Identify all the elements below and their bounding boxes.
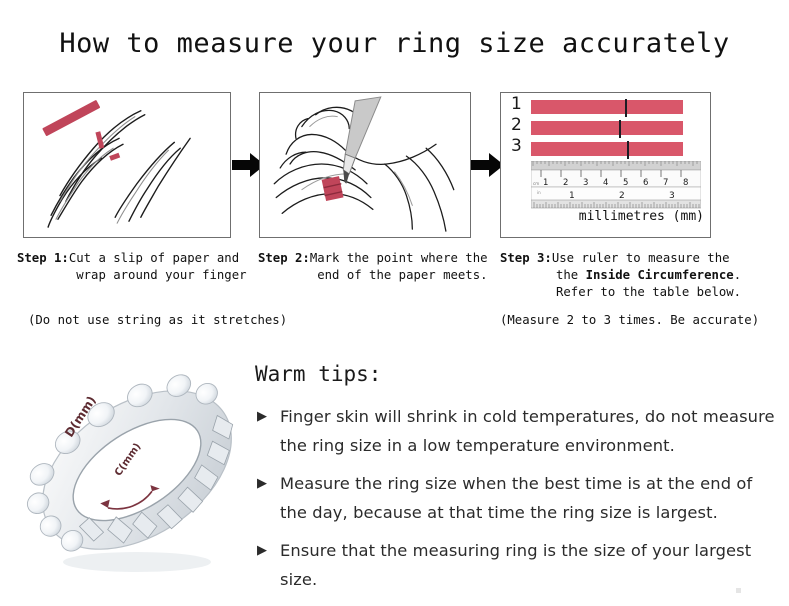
- svg-text:6: 6: [643, 178, 648, 188]
- step-3-inside-circumference: Inside Circumference: [586, 268, 734, 282]
- step-3-note: (Measure 2 to 3 times. Be accurate): [500, 313, 759, 327]
- svg-text:1: 1: [543, 178, 548, 188]
- step-1-note: (Do not use string as it stretches): [28, 313, 287, 327]
- step-3-caption: Step 3:Use ruler to measure thethe Insid…: [500, 250, 770, 301]
- step-1-panel: [23, 92, 231, 238]
- svg-text:5: 5: [623, 178, 628, 188]
- tip-item: ▶ Measure the ring size when the best ti…: [255, 469, 775, 527]
- svg-text:in: in: [537, 190, 541, 195]
- strip-row: 1: [509, 99, 705, 116]
- strip-row: 3: [509, 141, 705, 158]
- step-3-line2-pre: the: [556, 268, 586, 282]
- step-3-line3: Refer to the table below.: [556, 285, 741, 299]
- svg-text:1: 1: [569, 191, 575, 201]
- bullet-triangle-icon: ▶: [257, 402, 267, 431]
- strip-mark: [619, 120, 621, 138]
- step-3-line2-post: .: [734, 268, 741, 282]
- strip-row: 2: [509, 120, 705, 137]
- ruler-icon: 123 456 78 cm 123 in: [531, 161, 701, 209]
- tip-item: ▶ Finger skin will shrink in cold temper…: [255, 402, 775, 460]
- tip-item: ▶ Ensure that the measuring ring is the …: [255, 536, 775, 594]
- hand-with-paper-slip-icon: [24, 93, 230, 237]
- svg-text:2: 2: [563, 178, 568, 188]
- strip-number: 3: [511, 138, 522, 155]
- strip-bar: [531, 121, 683, 135]
- bullet-triangle-icon: ▶: [257, 536, 267, 565]
- step-3-panel: 1 2 3: [500, 92, 711, 238]
- page-title: How to measure your ring size accurately: [0, 28, 789, 59]
- svg-text:2: 2: [619, 191, 625, 201]
- bullet-triangle-icon: ▶: [257, 469, 267, 498]
- strip-bar: [531, 100, 683, 114]
- step-3-label: Step 3:: [500, 251, 552, 265]
- tip-text: Finger skin will shrink in cold temperat…: [280, 407, 775, 455]
- strip-number: 1: [511, 96, 522, 113]
- step-3-line1: Use ruler to measure the: [552, 251, 730, 265]
- svg-text:4: 4: [603, 178, 608, 188]
- warm-tips-section: Warm tips: ▶ Finger skin will shrink in …: [255, 362, 775, 603]
- svg-text:cm: cm: [533, 181, 539, 186]
- strip-mark: [625, 99, 627, 117]
- ring-illustration: [22, 358, 252, 583]
- hand-marking-paper-with-pen-icon: [260, 93, 470, 237]
- step-2-label: Step 2:: [258, 251, 310, 265]
- svg-text:7: 7: [663, 178, 668, 188]
- strip-bar: [531, 142, 683, 156]
- svg-text:8: 8: [683, 178, 688, 188]
- ring-size-guide-page: How to measure your ring size accurately: [0, 0, 789, 606]
- paper-strips-group: 1 2 3: [509, 99, 705, 162]
- tip-text: Ensure that the measuring ring is the si…: [280, 541, 751, 589]
- warm-tips-heading: Warm tips:: [255, 362, 775, 386]
- step-2-caption: Step 2:Mark the point where the end of t…: [258, 250, 498, 284]
- tip-text: Measure the ring size when the best time…: [280, 474, 752, 522]
- millimetres-label: millimetres (mm): [501, 209, 704, 224]
- strip-mark: [627, 141, 629, 159]
- step-1-caption: Step 1:Cut a slip of paper and wrap arou…: [17, 250, 257, 284]
- step-2-panel: [259, 92, 471, 238]
- corner-artifact: [736, 588, 741, 593]
- step-1-label: Step 1:: [17, 251, 69, 265]
- steps-row: 1 2 3: [0, 92, 789, 242]
- svg-text:3: 3: [669, 191, 675, 201]
- svg-text:3: 3: [583, 178, 588, 188]
- strip-number: 2: [511, 117, 522, 134]
